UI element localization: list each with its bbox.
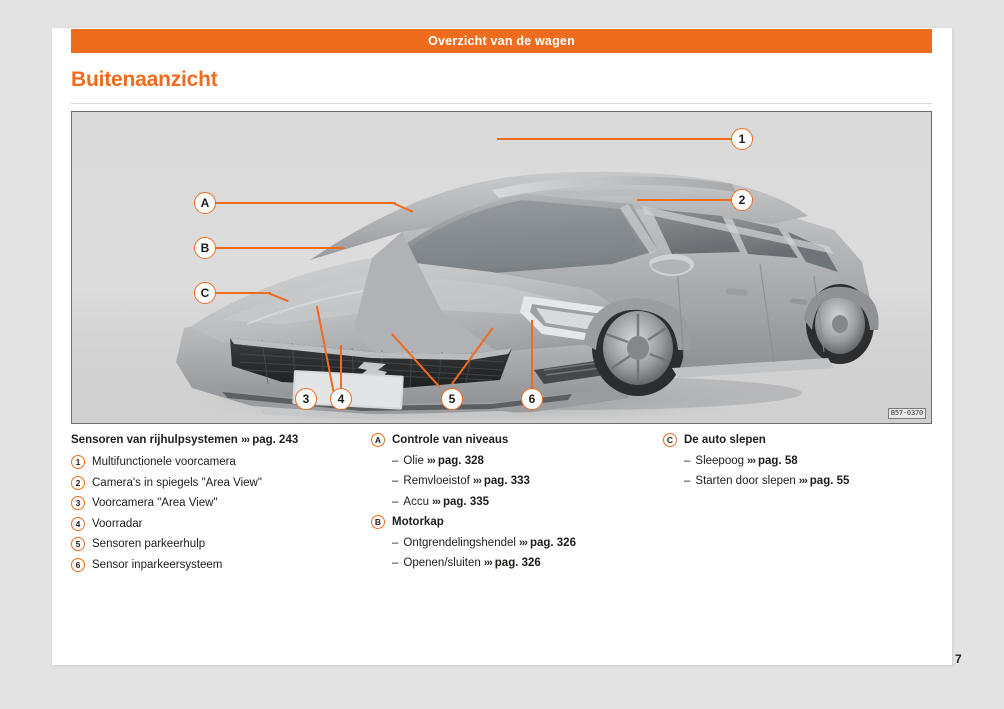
legend-column-maintenance: A Controle van niveaus – Olie ››› pag. 3… xyxy=(371,433,663,578)
list-item: 4 Voorradar xyxy=(71,517,371,531)
callout-b: B xyxy=(194,237,216,259)
page-reference: pag. 326 xyxy=(495,556,541,570)
sub-list-item-label: Olie xyxy=(403,454,423,468)
chevron-icon: ››› xyxy=(241,434,249,446)
list-item-label: Motorkap xyxy=(392,515,663,529)
dash-bullet: – xyxy=(392,474,398,488)
running-header-label: Overzicht van de wagen xyxy=(428,34,575,48)
page-number: 7 xyxy=(955,652,962,666)
vehicle-illustration xyxy=(72,112,931,423)
leader-line-c xyxy=(216,292,271,294)
title-divider xyxy=(71,103,932,104)
page-reference: pag. 55 xyxy=(810,474,850,488)
callout-2-label: 2 xyxy=(739,193,746,207)
list-item-label: Sensor inparkeersysteem xyxy=(92,558,371,572)
marker-2: 2 xyxy=(71,476,85,490)
sub-list-item: – Openen/sluiten ››› pag. 326 xyxy=(392,556,663,570)
legend-column-towing: C De auto slepen – Sleepoog ››› pag. 58 … xyxy=(663,433,932,578)
sub-list-item-label: Accu xyxy=(403,495,429,509)
chevron-icon: ››› xyxy=(473,474,481,488)
marker-3: 3 xyxy=(71,496,85,510)
marker-b: B xyxy=(371,515,385,529)
callout-1: 1 xyxy=(731,128,753,150)
list-item: 3 Voorcamera "Area View" xyxy=(71,496,371,510)
callout-c-label: C xyxy=(201,286,210,300)
callout-6-label: 6 xyxy=(529,392,536,406)
marker-c: C xyxy=(663,433,677,447)
list-item-label: Camera's in spiegels "Area View" xyxy=(92,476,371,490)
legend-column-sensors: Sensoren van rijhulpsystemen ››› pag. 24… xyxy=(71,433,371,578)
list-item: C De auto slepen xyxy=(663,433,932,447)
sub-list-item: – Sleepoog ››› pag. 58 xyxy=(684,454,932,468)
sub-list-item-label: Remvloeistof xyxy=(403,474,469,488)
callout-2: 2 xyxy=(731,189,753,211)
callout-3-label: 3 xyxy=(303,392,310,406)
dash-bullet: – xyxy=(684,454,690,468)
dash-bullet: – xyxy=(684,474,690,488)
list-item: 1 Multifunctionele voorcamera xyxy=(71,455,371,469)
sub-list-item-label: Ontgrendelingshendel xyxy=(403,536,516,550)
sub-list-item: – Starten door slepen ››› pag. 55 xyxy=(684,474,932,488)
sub-list-item: – Accu ››› pag. 335 xyxy=(392,495,663,509)
list-item: A Controle van niveaus xyxy=(371,433,663,447)
chevron-icon: ››› xyxy=(799,474,807,488)
sub-list-item-label: Sleepoog xyxy=(695,454,744,468)
screenshot-viewport: Overzicht van de wagen Buitenaanzicht xyxy=(0,0,1004,709)
list-item-label: De auto slepen xyxy=(684,433,932,447)
list-item-label: Voorcamera "Area View" xyxy=(92,496,371,510)
marker-1: 1 xyxy=(71,455,85,469)
vehicle-figure: B57-0370 xyxy=(71,111,932,424)
leader-line-a xyxy=(216,202,396,204)
page-reference: pag. 326 xyxy=(530,536,576,550)
callout-1-label: 1 xyxy=(739,132,746,146)
list-item: 2 Camera's in spiegels "Area View" xyxy=(71,476,371,490)
legend-heading-text: Sensoren van rijhulpsystemen xyxy=(71,434,238,446)
chevron-icon: ››› xyxy=(519,536,527,550)
page-reference: pag. 328 xyxy=(438,454,484,468)
callout-a: A xyxy=(194,192,216,214)
callout-5: 5 xyxy=(441,388,463,410)
callout-c: C xyxy=(194,282,216,304)
dash-bullet: – xyxy=(392,556,398,570)
chevron-icon: ››› xyxy=(484,556,492,570)
list-item: 5 Sensoren parkeerhulp xyxy=(71,537,371,551)
page-reference: pag. 333 xyxy=(484,474,530,488)
page-title: Buitenaanzicht xyxy=(71,68,218,92)
leader-line-1 xyxy=(497,138,732,140)
callout-5-label: 5 xyxy=(449,392,456,406)
leader-line-6 xyxy=(531,320,533,388)
page-reference: pag. 58 xyxy=(758,454,798,468)
list-item: 6 Sensor inparkeersysteem xyxy=(71,558,371,572)
list-item-label: Sensoren parkeerhulp xyxy=(92,537,371,551)
marker-6: 6 xyxy=(71,558,85,572)
page-reference: pag. 243 xyxy=(252,434,298,446)
chevron-icon: ››› xyxy=(747,454,755,468)
dash-bullet: – xyxy=(392,454,398,468)
legend-heading-sensors: Sensoren van rijhulpsystemen ››› pag. 24… xyxy=(71,433,371,447)
figure-id-label: B57-0370 xyxy=(888,408,926,419)
dash-bullet: – xyxy=(392,536,398,550)
sub-list-item-label: Openen/sluiten xyxy=(403,556,480,570)
running-header: Overzicht van de wagen xyxy=(71,29,932,53)
sub-list-item: – Ontgrendelingshendel ››› pag. 326 xyxy=(392,536,663,550)
list-item-label: Controle van niveaus xyxy=(392,433,663,447)
callout-4: 4 xyxy=(330,388,352,410)
leader-line-b xyxy=(216,247,345,249)
sub-list-item: – Remvloeistof ››› pag. 333 xyxy=(392,474,663,488)
sub-list-item: – Olie ››› pag. 328 xyxy=(392,454,663,468)
sub-list-item-label: Starten door slepen xyxy=(695,474,795,488)
list-item-label: Multifunctionele voorcamera xyxy=(92,455,371,469)
callout-6: 6 xyxy=(521,388,543,410)
dash-bullet: – xyxy=(392,495,398,509)
page-reference: pag. 335 xyxy=(443,495,489,509)
leader-line-4 xyxy=(340,345,342,388)
list-item: B Motorkap xyxy=(371,515,663,529)
callout-3: 3 xyxy=(295,388,317,410)
callout-4-label: 4 xyxy=(338,392,345,406)
chevron-icon: ››› xyxy=(432,495,440,509)
callout-a-label: A xyxy=(201,196,210,210)
figure-legend: Sensoren van rijhulpsystemen ››› pag. 24… xyxy=(71,433,932,578)
list-item-label: Voorradar xyxy=(92,517,371,531)
marker-5: 5 xyxy=(71,537,85,551)
callout-b-label: B xyxy=(201,241,210,255)
marker-a: A xyxy=(371,433,385,447)
leader-line-2 xyxy=(637,199,732,201)
chevron-icon: ››› xyxy=(427,454,435,468)
marker-4: 4 xyxy=(71,517,85,531)
